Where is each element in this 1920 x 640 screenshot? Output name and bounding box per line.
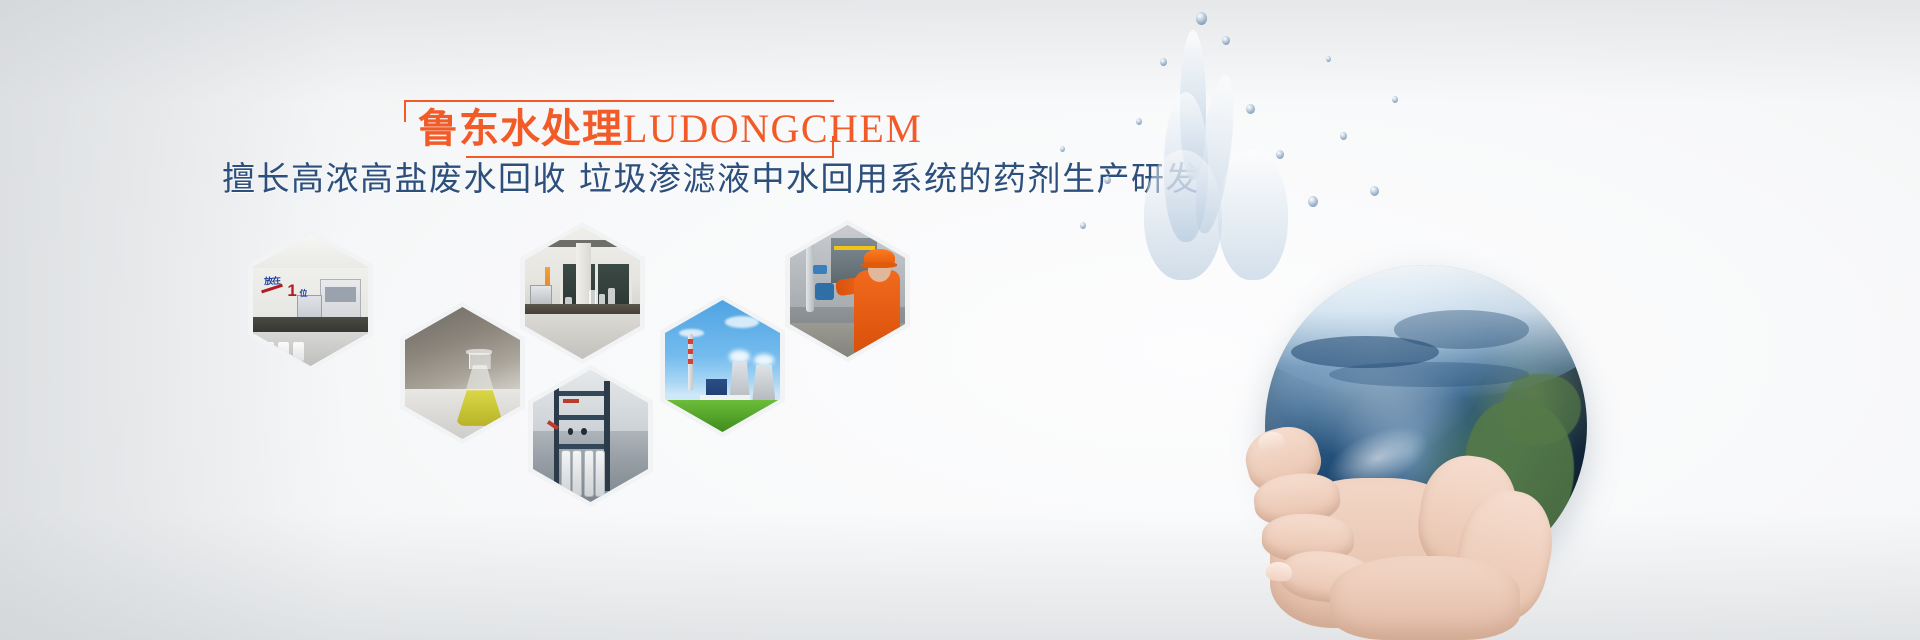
hexagon-laboratory-glassware xyxy=(520,222,645,364)
hexagon-conical-flask xyxy=(400,302,525,444)
hexagon-photo-cluster: 放在1位 xyxy=(230,215,970,520)
brand-title-en: LUDONGCHEM xyxy=(623,106,922,151)
hexagon-lab-room: 放在1位 xyxy=(248,229,373,371)
hexagon-ro-membrane-skid xyxy=(528,365,653,507)
bracket-left-tick xyxy=(404,100,406,122)
hexagon-power-plant xyxy=(660,295,785,437)
hexagon-plant-operator xyxy=(785,220,910,362)
bracket-top-line xyxy=(404,100,834,102)
hands-holding-globe xyxy=(1210,370,1640,640)
brand-title-block: 鲁东水处理LUDONGCHEM xyxy=(404,100,834,158)
water-globe-imagery xyxy=(1040,0,1920,640)
banner-stage: 鲁东水处理LUDONGCHEM 擅长高浓高盐废水回收 垃圾渗滤液中水回用系统的药… xyxy=(0,0,1920,640)
page-title: 鲁东水处理LUDONGCHEM xyxy=(418,103,922,155)
brand-title-cn: 鲁东水处理 xyxy=(418,106,623,151)
wall-slogan: 放在1位 xyxy=(261,274,312,303)
